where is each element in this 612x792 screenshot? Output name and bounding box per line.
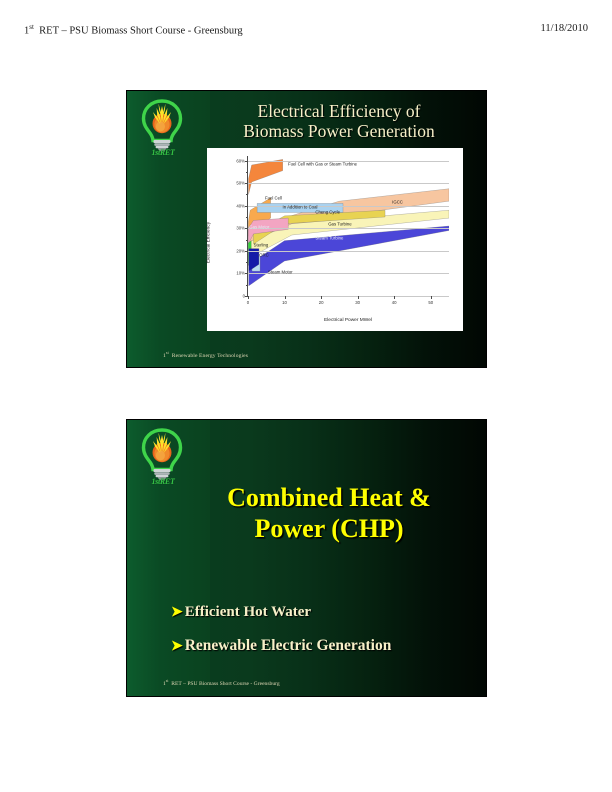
chart-series-label: Steam Motor [268, 270, 293, 275]
slide2-title: Combined Heat & Power (CHP) [179, 482, 479, 544]
bullet-arrow-icon: ➤ [171, 606, 183, 620]
slide2-bullet-item: ➤Efficient Hot Water [171, 604, 481, 621]
chart-band-fuel-cell-with-gas-or-steam-turbine [249, 159, 283, 194]
chart-y-tick-label: 10% [236, 271, 245, 276]
chart-gridline [248, 251, 449, 252]
slide1-footer: 1st Renewable Energy Technologies [163, 350, 248, 359]
chart-y-tick-mark [245, 206, 248, 207]
slide2-title-line1: Combined Heat & [179, 482, 479, 513]
page-header: 1st RET – PSU Biomass Short Course - Gre… [0, 23, 612, 39]
chart-x-tick-mark [431, 296, 432, 299]
chart-y-minor-tick [246, 194, 248, 195]
chart-y-minor-tick [246, 172, 248, 173]
header-course-text: RET – PSU Biomass Short Course - Greensb… [39, 26, 243, 37]
chart-y-tick-mark [245, 183, 248, 184]
slide2-footer: 1st RET – PSU Biomass Short Course - Gre… [163, 678, 280, 687]
chart-x-tick-label: 20 [319, 300, 324, 305]
chart-series-label: Gas Turbine [328, 221, 351, 226]
header-date: 11/18/2010 [541, 23, 588, 34]
bullet-arrow-icon: ➤ [171, 640, 183, 654]
chart-series-label: ORC [259, 253, 269, 258]
chart-gridline [248, 183, 449, 184]
slide1-title-line2: Biomass Power Generation [197, 121, 481, 141]
slide2-footer-ordinal-suffix: st [166, 678, 169, 683]
slide2-bullet-list: ➤Efficient Hot Water➤Renewable Electric … [171, 604, 481, 670]
first-ret-logo: 1stRET [136, 97, 188, 157]
slide1-title-line1: Electrical Efficiency of [197, 101, 481, 121]
chart-x-tick-mark [248, 296, 249, 299]
chart-y-minor-tick [246, 217, 248, 218]
efficiency-chart: Electrical Efficiency Electrical Power M… [207, 148, 463, 331]
chart-y-minor-tick [246, 240, 248, 241]
slide2-bullet-item: ➤Renewable Electric Generation [171, 637, 481, 654]
chart-x-tick-mark [394, 296, 395, 299]
chart-y-tick-mark [245, 228, 248, 229]
chart-canvas: Electrical Efficiency Electrical Power M… [207, 148, 463, 331]
chart-y-axis-label: Electrical Efficiency [207, 207, 212, 277]
chart-y-minor-tick [246, 262, 248, 263]
header-ordinal-suffix: st [29, 23, 34, 31]
slide1-title: Electrical Efficiency of Biomass Power G… [197, 101, 481, 141]
chart-series-label: Cheng Cycle [315, 210, 340, 215]
chart-x-tick-label: 30 [355, 300, 360, 305]
chart-series-label: Fuel Cell with Gas or Steam Turbine [288, 161, 357, 166]
header-course-title: 1st RET – PSU Biomass Short Course - Gre… [24, 23, 243, 37]
chart-x-tick-label: 10 [282, 300, 287, 305]
logo-wordmark: 1stRET [140, 148, 186, 157]
chart-series-label: In Addition to Coal [283, 204, 318, 209]
chart-series-label: Steam Turbine [315, 236, 343, 241]
chart-gridline [248, 296, 449, 297]
chart-x-tick-label: 0 [247, 300, 249, 305]
slide1-footer-ordinal-suffix: st [166, 350, 169, 355]
chart-y-tick-mark [245, 161, 248, 162]
chart-series-label: Gas Motor [249, 225, 269, 230]
chart-y-minor-tick [246, 285, 248, 286]
slide1-footer-text: Renewable Energy Technologies [172, 353, 248, 359]
slide2-footer-text: RET – PSU Biomass Short Course - Greensb… [171, 681, 279, 687]
chart-y-tick-label: 30% [236, 226, 245, 231]
chart-series-label: Sterling [254, 243, 269, 248]
chart-y-tick-label: 40% [236, 203, 245, 208]
chart-y-tick-label: 60% [236, 158, 245, 163]
chart-y-tick-label: 20% [236, 248, 245, 253]
first-ret-logo-2: 1stRET [136, 426, 188, 486]
document-page: 1st RET – PSU Biomass Short Course - Gre… [0, 0, 612, 792]
chart-x-tick-mark [358, 296, 359, 299]
slide-combined-heat-power[interactable]: 1stRET Combined Heat & Power (CHP) ➤Effi… [126, 419, 487, 697]
chart-y-tick-mark [245, 273, 248, 274]
chart-x-tick-label: 40 [392, 300, 397, 305]
chart-y-tick-mark [245, 251, 248, 252]
chart-x-tick-mark [321, 296, 322, 299]
slide-electrical-efficiency[interactable]: 1stRET Electrical Efficiency of Biomass … [126, 90, 487, 368]
chart-gridline [248, 206, 449, 207]
chart-plot-area: 010%20%30%40%50%60%01020304050Fuel Cell … [247, 156, 449, 297]
bullet-label: Renewable Electric Generation [185, 637, 392, 654]
bullet-label: Efficient Hot Water [185, 604, 311, 621]
chart-x-tick-label: 50 [428, 300, 433, 305]
chart-gridline [248, 228, 449, 229]
chart-x-axis-label: Electrical Power MWel [247, 318, 449, 323]
chart-series-label: IGCC [392, 200, 403, 205]
chart-x-tick-mark [285, 296, 286, 299]
chart-series-label: Fuel Cell [265, 195, 282, 200]
slide2-title-line2: Power (CHP) [179, 513, 479, 544]
chart-y-tick-label: 50% [236, 181, 245, 186]
